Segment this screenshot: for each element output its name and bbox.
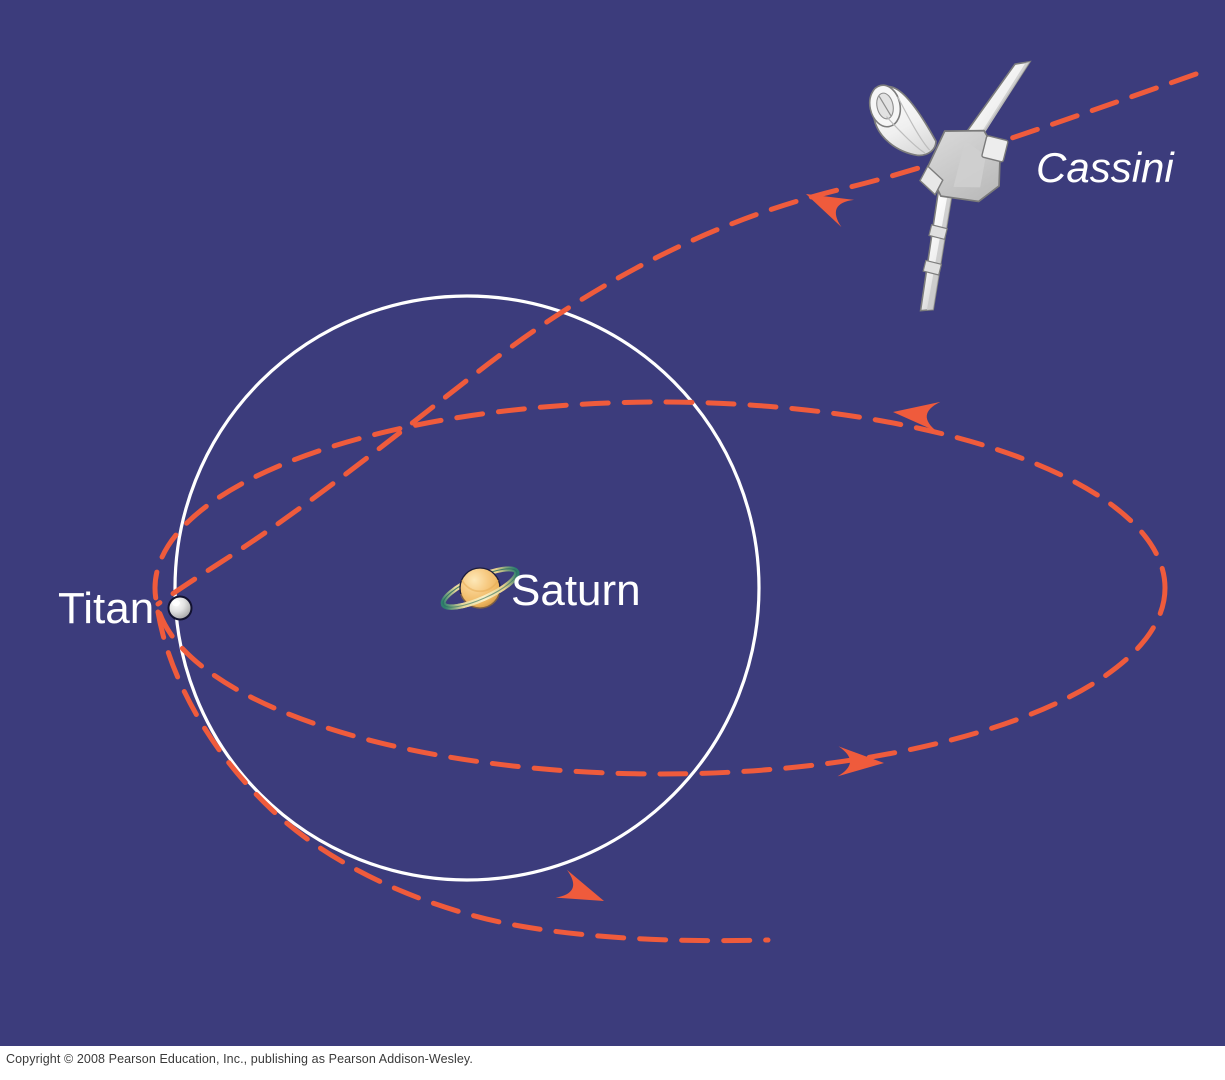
copyright-notice: Copyright © 2008 Pearson Education, Inc.… xyxy=(6,1052,473,1066)
saturn-label: Saturn xyxy=(511,566,641,615)
figure-root: Saturn Titan xyxy=(0,0,1225,1080)
cassini-label: Cassini xyxy=(1036,144,1175,191)
titan-icon xyxy=(169,597,192,620)
orbital-diagram: Saturn Titan xyxy=(0,0,1225,1046)
titan-label: Titan xyxy=(58,584,154,633)
